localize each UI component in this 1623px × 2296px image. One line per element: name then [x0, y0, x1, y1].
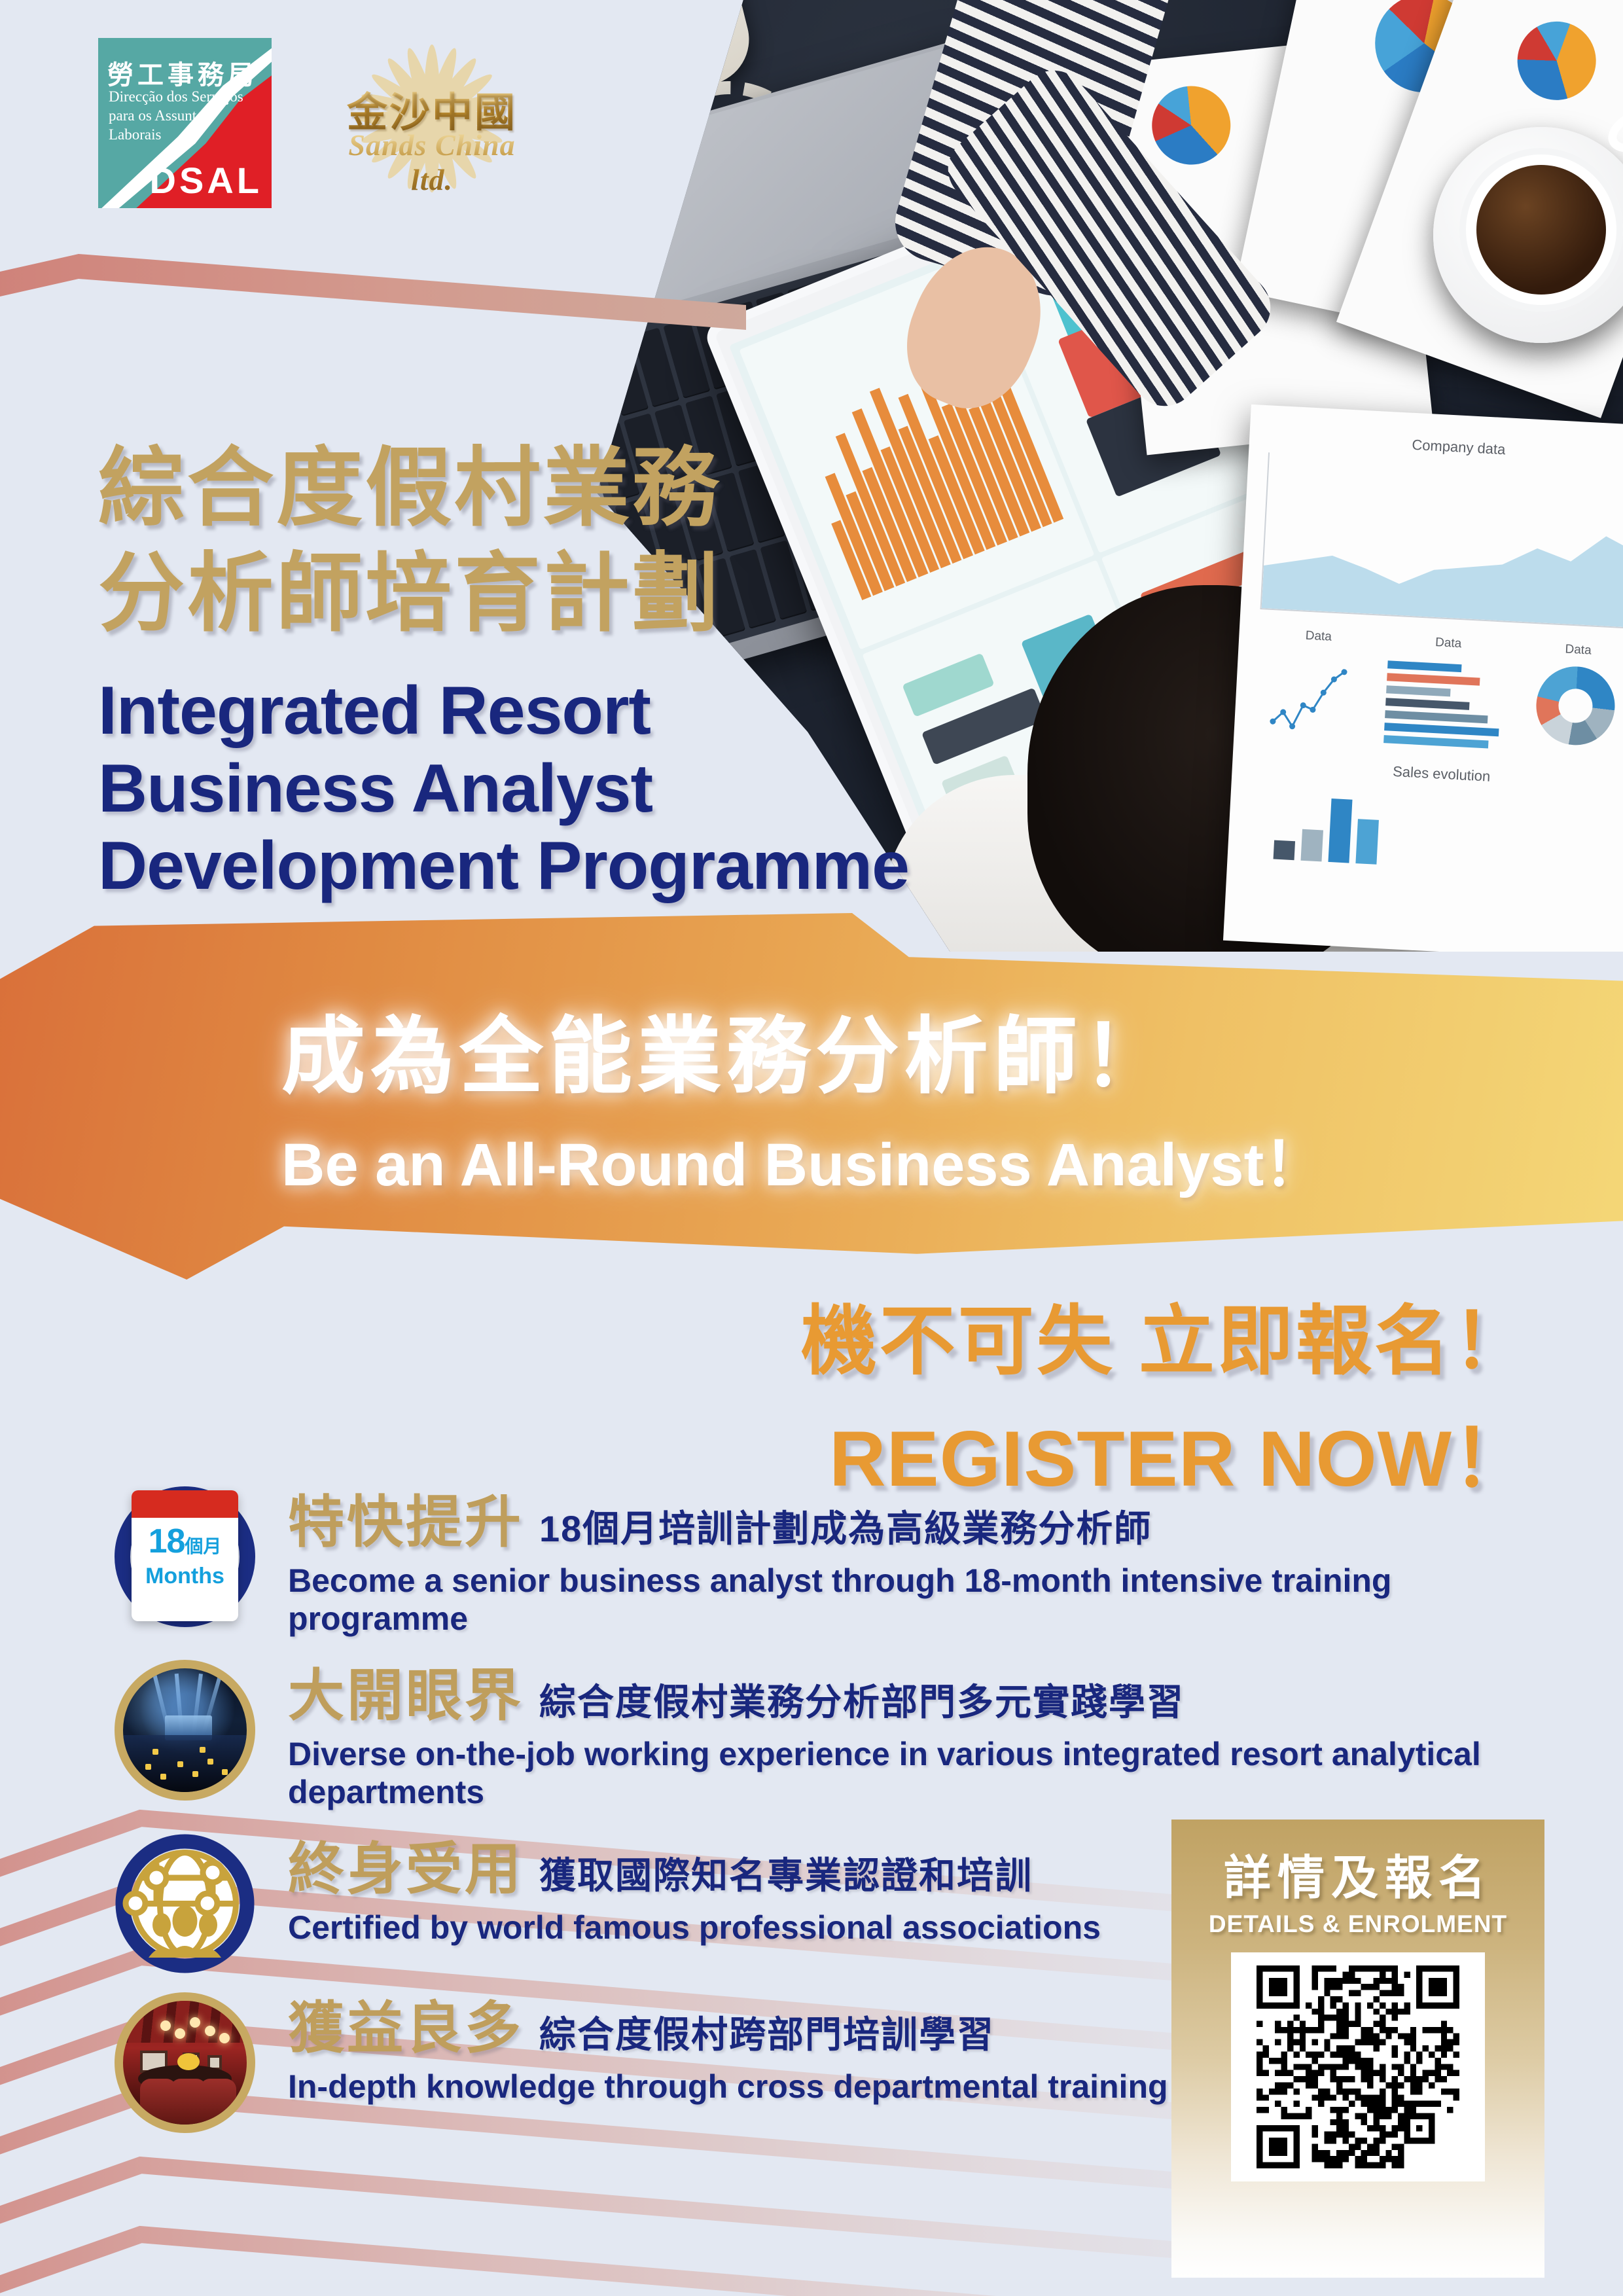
concert-arena-icon: [115, 1660, 255, 1801]
feature-item-eye-opening: 大開眼界 綜合度假村業務分析部門多元實踐學習 Diverse on-the-jo…: [115, 1649, 1502, 1811]
register-chinese: 機不可失 立即報名！: [681, 1280, 1531, 1390]
report-mini-3: Data: [1513, 640, 1623, 764]
dsal-chinese-name: 勞工事務局: [107, 54, 265, 92]
slogan-text-group: 成為全能業務分析師！ Be an All-Round Business Anal…: [281, 988, 1459, 1203]
title-english-line2: Business Analyst: [98, 750, 916, 828]
feature-text-en: Become a senior business analyst through…: [288, 1562, 1502, 1638]
report-area-chart: [1260, 452, 1623, 629]
feature-subtitle-zh: 18個月培訓計劃成為高級業務分析師: [539, 1499, 1152, 1552]
report-footer-title: Sales evolution: [1251, 756, 1623, 793]
title-chinese-line1: 綜合度假村業務: [98, 435, 916, 541]
feature-subtitle-zh: 獲取國際知名專業認證和培訓: [539, 1846, 1033, 1899]
title-english-line1: Integrated Resort: [98, 672, 916, 750]
feature-title-zh: 大開眼界: [288, 1649, 524, 1731]
feature-item-fast-track: 18個月 Months 特快提升 18個月培訓計劃成為高級業務分析師 Becom…: [115, 1476, 1502, 1638]
qr-code-box[interactable]: [1231, 1952, 1485, 2181]
qr-title-english: DETAILS & ENROLMENT: [1171, 1910, 1544, 1938]
feature-title-zh: 終身受用: [288, 1823, 524, 1905]
decorative-chevron-top: [0, 251, 746, 336]
title-block: 綜合度假村業務 分析師培育計劃 Integrated Resort Busine…: [98, 435, 916, 905]
qr-code[interactable]: [1247, 1965, 1469, 2168]
calendar-number: 18: [149, 1522, 185, 1560]
dsal-acronym: DSAL: [150, 159, 262, 202]
register-callout: 機不可失 立即報名！ REGISTER NOW！: [681, 1280, 1531, 1509]
feature-title-zh: 特快提升: [288, 1476, 524, 1558]
calendar-unit-zh: 個月: [185, 1536, 221, 1556]
logo-row: 勞工事務局 Direcção dos Serviços para os Assu…: [98, 38, 540, 208]
sands-english-name: Sands China ltd.: [324, 128, 540, 197]
coffee-cup: [1459, 148, 1623, 312]
dsal-portuguese-name: Direcção dos Serviços para os Assuntos L…: [109, 88, 264, 144]
printed-report: Company data Data: [1223, 404, 1623, 952]
title-chinese-line2: 分析師培育計劃: [98, 541, 916, 646]
title-english-line3: Development Programme: [98, 827, 916, 905]
poster-root: Company data Data: [0, 0, 1623, 2296]
feature-subtitle-zh: 綜合度假村跨部門培訓學習: [539, 2005, 995, 2058]
banquet-room-icon: [115, 1992, 255, 2133]
slogan-chinese: 成為全能業務分析師！: [281, 988, 1459, 1109]
feature-text-en: Diverse on-the-job working experience in…: [288, 1735, 1502, 1811]
globe-network-people-icon: [115, 1833, 255, 1974]
feature-subtitle-zh: 綜合度假村業務分析部門多元實踐學習: [539, 1673, 1185, 1726]
slogan-english: Be an All-Round Business Analyst！: [281, 1116, 1459, 1203]
sands-china-logo: 金沙中國 Sands China ltd.: [324, 41, 540, 205]
feature-title-zh: 獲益良多: [288, 1982, 524, 2064]
qr-title-chinese: 詳情及報名: [1171, 1820, 1544, 1908]
details-enrolment-panel: 詳情及報名 DETAILS & ENROLMENT: [1171, 1820, 1544, 2278]
dsal-logo: 勞工事務局 Direcção dos Serviços para os Assu…: [98, 38, 272, 208]
calendar-unit-en: Months: [132, 1564, 238, 1589]
report-mini-2: Data: [1383, 633, 1508, 757]
calendar-18-months-icon: 18個月 Months: [115, 1486, 255, 1627]
report-mini-1: Data: [1253, 626, 1379, 750]
